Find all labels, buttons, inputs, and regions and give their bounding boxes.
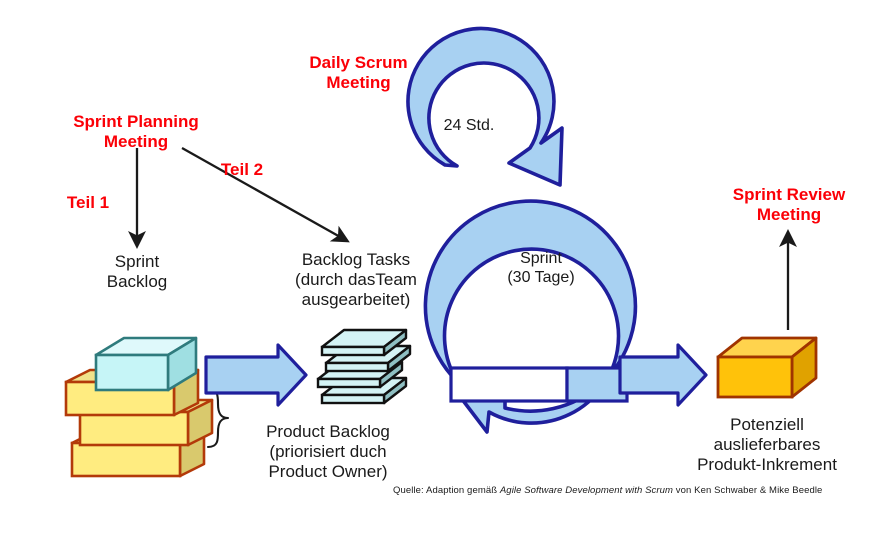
block-arrow-to-tasks — [206, 345, 306, 405]
label-product-increment: Potenziell auslieferbares Produkt-Inkrem… — [677, 415, 857, 475]
backlog-tasks-card-stack — [318, 330, 410, 403]
label-teil-1: Teil 1 — [58, 193, 118, 213]
scrum-process-diagram: Sprint Planning Meeting Teil 1 Teil 2 Da… — [0, 0, 885, 543]
label-sprint-planning-meeting: Sprint Planning Meeting — [56, 112, 216, 152]
label-daily-cycle-duration: 24 Std. — [424, 117, 514, 136]
block-arrow-to-increment — [620, 345, 706, 405]
product-increment-block — [718, 338, 816, 397]
label-sprint-backlog: Sprint Backlog — [87, 252, 187, 292]
label-daily-scrum-meeting: Daily Scrum Meeting — [286, 53, 431, 93]
label-backlog-tasks: Backlog Tasks (durch dasTeam ausgearbeit… — [256, 250, 456, 310]
label-teil-2: Teil 2 — [212, 160, 272, 180]
daily-scrum-cycle-arrow — [408, 28, 562, 185]
label-product-backlog: Product Backlog (priorisiert duch Produc… — [228, 422, 428, 482]
label-sprint-duration: Sprint (30 Tage) — [486, 250, 596, 288]
source-caption-book-title: Agile Software Development with Scrum — [500, 485, 673, 496]
sprint-backlog-block — [96, 338, 196, 390]
product-backlog-stack — [66, 338, 212, 476]
label-sprint-review-meeting: Sprint Review Meeting — [714, 185, 864, 225]
source-caption-suffix: von Ken Schwaber & Mike Beedle — [673, 485, 822, 496]
source-caption: Quelle: Adaption gemäß Agile Software De… — [393, 485, 822, 496]
source-caption-prefix: Quelle: Adaption gemäß — [393, 485, 500, 496]
sprint-bottom-band — [451, 368, 627, 401]
